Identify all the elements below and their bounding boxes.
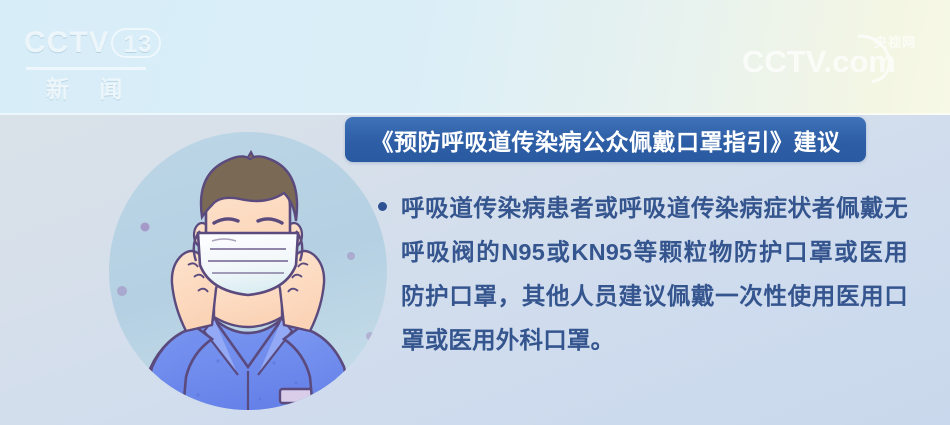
page-title: 《预防呼吸道传染病公众佩戴口罩指引》建议 [371, 123, 841, 157]
cctv-wordmark: CCTV [24, 26, 110, 60]
person-wearing-mask-illustration [108, 131, 388, 411]
cctv13-watermark-logo: CCTV 13 [24, 26, 161, 60]
channel-name-label: 新 闻 [46, 70, 134, 104]
cctv-com-domain-label: CCTV.com [742, 44, 896, 80]
top-band-divider [0, 113, 950, 115]
list-item: 呼吸道传染病患者或呼吸道传染病症状者佩戴无呼吸阀的N95或KN95等颗粒物防护口… [378, 186, 908, 362]
news-graphic-screen: CCTV 13 新 闻 央视网 CCTV.com [0, 0, 950, 425]
illustration-container [108, 131, 388, 411]
list-item-text: 呼吸道传染病患者或呼吸道传染病症状者佩戴无呼吸阀的N95或KN95等颗粒物防护口… [401, 186, 908, 362]
guideline-list: 呼吸道传染病患者或呼吸道传染病症状者佩戴无呼吸阀的N95或KN95等颗粒物防护口… [378, 186, 908, 362]
channel-number-badge: 13 [111, 28, 162, 58]
cctv-com-watermark: 央视网 CCTV.com [742, 30, 922, 86]
title-banner: 《预防呼吸道传染病公众佩戴口罩指引》建议 [345, 117, 866, 162]
bullet-dot-icon [378, 202, 387, 211]
cctv13-watermark: CCTV 13 新 闻 [24, 26, 194, 98]
